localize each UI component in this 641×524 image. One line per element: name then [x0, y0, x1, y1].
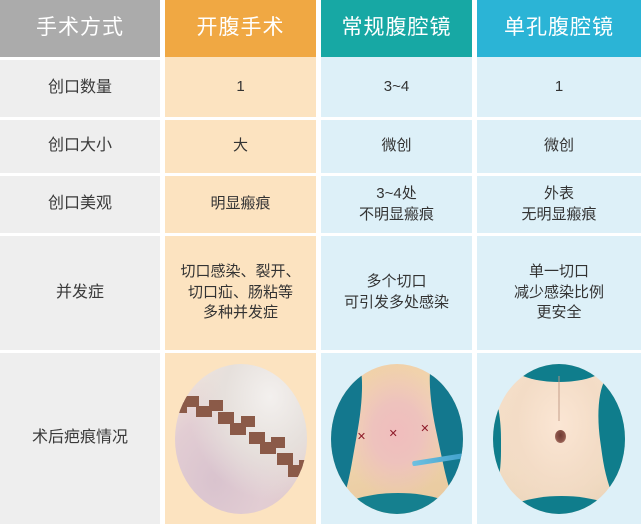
cell-incision-count-single-port: 1 [472, 57, 641, 117]
open-surgery-scar-photo [175, 364, 307, 514]
surgical-drape-right [591, 370, 625, 514]
comparison-table: 手术方式 开腹手术 常规腹腔镜 单孔腹腔镜 创口数量 1 3~4 1 创口大小 … [0, 0, 641, 524]
cell-complications-single-port: 单一切口减少感染比例更安全 [472, 233, 641, 350]
port-incision-1: ✕ [357, 433, 366, 442]
cell-scar-photo-conventional: ✕ ✕ ✕ [316, 350, 472, 524]
surgical-drape-left [493, 385, 501, 505]
cell-incision-aesthetics-conventional: 3~4处不明显瘢痕 [316, 173, 472, 233]
umbilical-incision [555, 430, 566, 443]
single-port-laparoscopy-scar-photo [493, 364, 625, 514]
cell-incision-size-conventional: 微创 [316, 117, 472, 173]
cell-scar-photo-open-surgery [160, 350, 316, 524]
surgical-drape-right [420, 364, 463, 514]
cell-incision-count-conventional: 3~4 [316, 57, 472, 117]
header-cell-single-port-laparoscopy: 单孔腹腔镜 [472, 0, 641, 57]
cell-complications-open-surgery: 切口感染、裂开、切口疝、肠粘等多种并发症 [160, 233, 316, 350]
row-label-postoperative-scar: 术后疤痕情况 [0, 350, 160, 524]
cell-incision-count-open-surgery: 1 [160, 57, 316, 117]
cell-incision-aesthetics-open-surgery: 明显瘢痕 [160, 173, 316, 233]
cell-incision-size-single-port: 微创 [472, 117, 641, 173]
cell-incision-aesthetics-single-port: 外表无明显瘢痕 [472, 173, 641, 233]
header-cell-open-surgery: 开腹手术 [160, 0, 316, 57]
cell-complications-conventional: 多个切口可引发多处感染 [316, 233, 472, 350]
surgical-drape-bottom [336, 493, 460, 514]
pixelated-scar-overlay [175, 373, 307, 505]
row-label-incision-count: 创口数量 [0, 57, 160, 117]
cell-scar-photo-single-port [472, 350, 641, 524]
conventional-laparoscopy-scar-photo: ✕ ✕ ✕ [331, 364, 463, 514]
row-label-incision-size: 创口大小 [0, 117, 160, 173]
header-cell-conventional-laparoscopy: 常规腹腔镜 [316, 0, 472, 57]
cell-incision-size-open-surgery: 大 [160, 117, 316, 173]
header-cell-method: 手术方式 [0, 0, 160, 57]
surgical-drape-bottom [501, 496, 622, 514]
port-incision-2: ✕ [389, 430, 398, 439]
linea-alba [558, 376, 560, 421]
row-label-incision-aesthetics: 创口美观 [0, 173, 160, 233]
row-label-complications: 并发症 [0, 233, 160, 350]
port-incision-3: ✕ [420, 425, 429, 434]
